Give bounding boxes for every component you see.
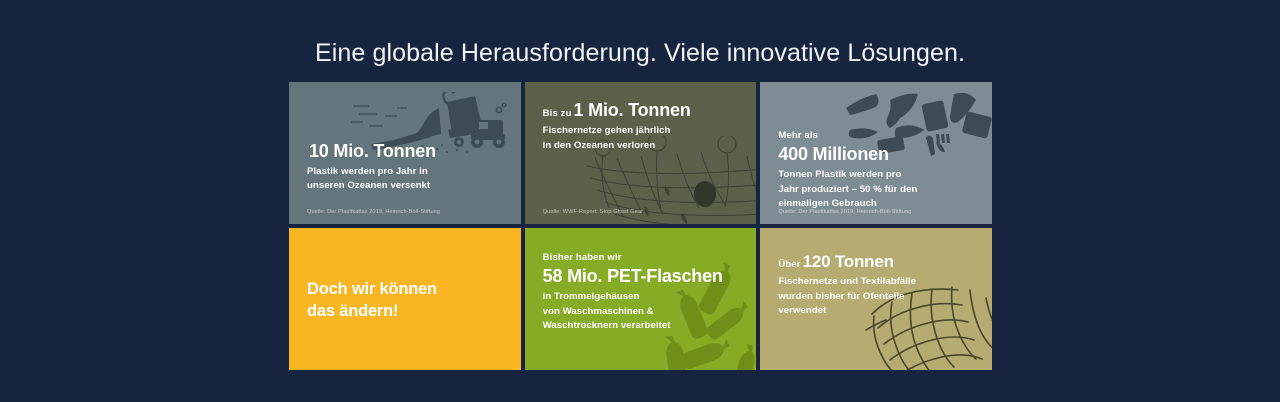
stat-card-lost-fishing-nets[interactable]: Bis zu1 Mio. Tonnen Fischernetze gehen j… [525,82,757,224]
stat-card-plastic-in-oceans[interactable]: 10 Mio. Tonnen Plastik werden pro Jahr i… [289,82,521,224]
card-text: 10 Mio. Tonnen Plastik werden pro Jahr i… [289,141,521,194]
card-subtext: in Trommelgehäusen von Waschmaschinen & … [543,290,739,334]
card-eyebrow: Mehr als [778,130,974,143]
subtext-line-1: in Trommelgehäusen [543,291,640,302]
subtext-line-3: verwendet [778,305,826,316]
page-title: Eine globale Herausforderung. Viele inno… [0,39,1280,68]
headline-value: 120 Tonnen [803,252,894,271]
card-subtext: Fischernetze gehen jährlich in den Ozean… [543,124,739,153]
subtext-line-2: wurden bisher für Ofenteile [778,291,904,302]
headline-prefix: Bis zu [543,108,572,119]
card-text: Über120 Tonnen Fischernetze und Textilab… [760,252,992,319]
card-source: Quelle: Der Plastikatlas 2019, Heinrich-… [307,209,440,215]
stat-card-plastic-production[interactable]: Mehr als 400 Millionen Tonnen Plastik we… [760,82,992,224]
subtext-line-3: Waschtrocknern verarbeitet [543,320,671,331]
headline-value: Doch wir können [307,280,437,298]
card-text: Mehr als 400 Millionen Tonnen Plastik we… [760,130,992,212]
subtext-line-1: Fischernetze und Textilabfälle [778,276,916,287]
headline-value: 400 Millionen [778,144,888,164]
card-headline: 10 Mio. Tonnen [307,141,503,161]
headline-value: 10 Mio. Tonnen [309,141,436,161]
card-subtext: Plastik werden pro Jahr in unseren Ozean… [307,165,503,194]
headline-value: 58 Mio. PET-Flaschen [543,266,723,286]
card-eyebrow: Bisher haben wir [543,252,739,265]
stat-card-pet-bottles-recycled[interactable]: Bisher haben wir 58 Mio. PET-Flaschen in… [525,228,757,370]
subtext-line-3: einmaligen Gebrauch [778,198,877,209]
card-text: Doch wir können das ändern! [289,278,521,327]
card-headline: Doch wir können das ändern! [307,278,503,323]
card-subtext: Fischernetze und Textilabfälle wurden bi… [778,275,974,319]
stat-card-call-to-action[interactable]: Doch wir können das ändern! [289,228,521,370]
headline-prefix: Über [778,259,800,270]
card-source: Quelle: WWF-Report: Stop Ghost Gear [543,209,644,215]
card-headline: Über120 Tonnen [778,252,974,271]
stat-card-net-reuse[interactable]: Über120 Tonnen Fischernetze und Textilab… [760,228,992,370]
headline-value: 1 Mio. Tonnen [574,100,691,120]
subtext-line-1: Fischernetze gehen jährlich [543,125,671,136]
card-subtext: Tonnen Plastik werden pro Jahr produzier… [778,168,974,212]
card-text: Bis zu1 Mio. Tonnen Fischernetze gehen j… [525,100,757,153]
subtext-line-2: Jahr produziert – 50 % für den [778,184,917,195]
subtext-line-1: Tonnen Plastik werden pro [778,169,901,180]
subtext-line-1: Plastik werden pro Jahr in [307,166,428,177]
card-text: Bisher haben wir 58 Mio. PET-Flaschen in… [525,252,757,334]
subtext-line-2: von Waschmaschinen & [543,306,654,317]
card-headline: Bis zu1 Mio. Tonnen [543,100,739,120]
card-headline: 400 Millionen [778,144,974,164]
stats-card-grid: 10 Mio. Tonnen Plastik werden pro Jahr i… [289,82,992,370]
card-source: Quelle: Der Plastikatlas 2019, Heinrich-… [778,209,911,215]
card-headline: 58 Mio. PET-Flaschen [543,266,739,286]
subtext-line-2: unseren Ozeanen versenkt [307,180,430,191]
subtext-line-2: in den Ozeanen verloren [543,140,656,151]
headline-value-line-2: das ändern! [307,302,398,320]
